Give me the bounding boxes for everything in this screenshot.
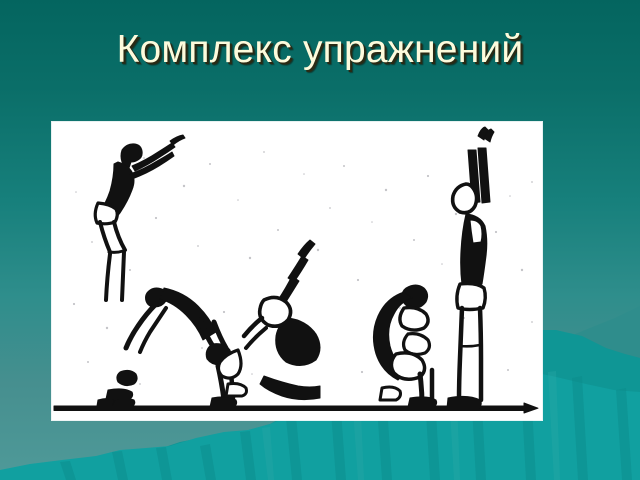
presentation-slide: Комплекс упражнений bbox=[0, 0, 640, 480]
figure-crouch bbox=[373, 285, 436, 407]
figure-forward-bend bbox=[106, 288, 237, 407]
figure-stand-arms-overhead bbox=[447, 127, 494, 408]
slide-title: Комплекс упражнений bbox=[0, 28, 640, 72]
figure-stand-arms-forward bbox=[95, 135, 185, 406]
figure-sequence bbox=[52, 122, 542, 420]
figure-backward-roll bbox=[218, 240, 320, 400]
exercise-illustration-panel bbox=[52, 122, 542, 420]
